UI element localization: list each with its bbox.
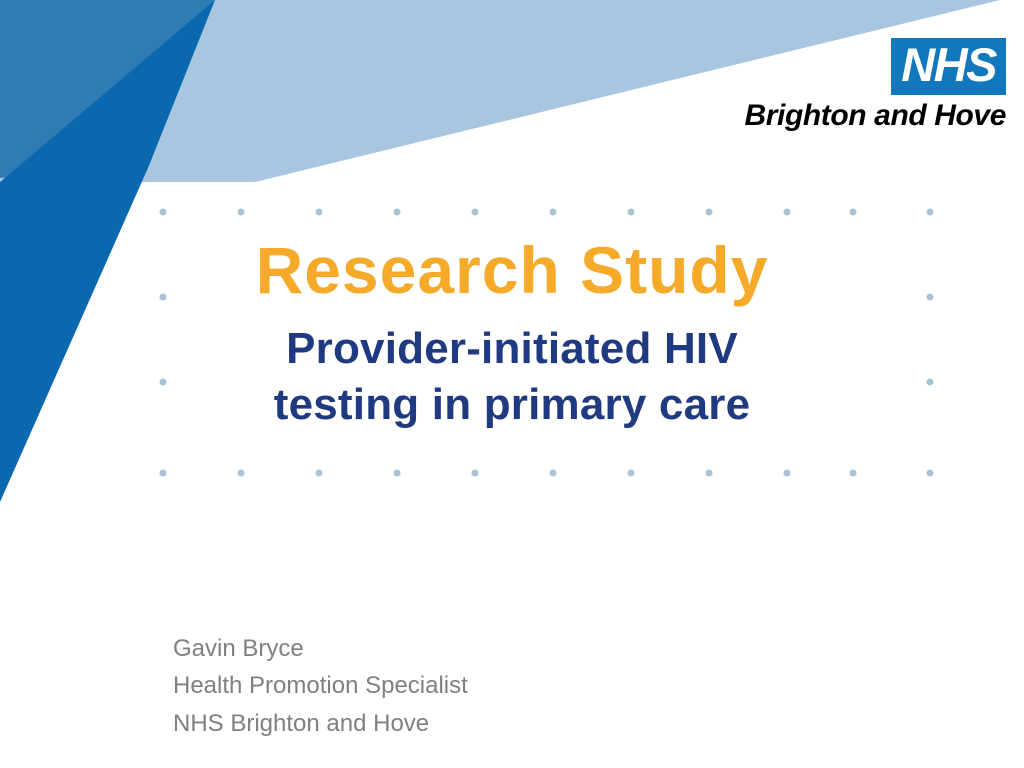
grid-dot xyxy=(706,470,713,477)
grid-dot xyxy=(238,470,245,477)
page-subtitle: Provider-initiated HIV testing in primar… xyxy=(192,321,832,432)
grid-dot xyxy=(316,470,323,477)
author-name: Gavin Bryce xyxy=(173,630,468,667)
grid-dot xyxy=(472,209,479,216)
subtitle-line-2: testing in primary care xyxy=(192,377,832,432)
grid-dot xyxy=(706,209,713,216)
nhs-trust-name: Brighton and Hove xyxy=(744,101,1006,131)
grid-dot xyxy=(550,209,557,216)
grid-dot xyxy=(784,209,791,216)
title-block: Research Study Provider-initiated HIV te… xyxy=(0,236,1024,432)
grid-dot xyxy=(628,470,635,477)
grid-dot xyxy=(316,209,323,216)
grid-dot xyxy=(160,209,167,216)
grid-dot xyxy=(850,470,857,477)
grid-dot xyxy=(394,209,401,216)
grid-dot xyxy=(784,470,791,477)
grid-dot xyxy=(927,470,934,477)
title-slide: NHS Brighton and Hove Research Study Pro… xyxy=(0,0,1024,768)
grid-dot xyxy=(550,470,557,477)
grid-dot xyxy=(628,209,635,216)
grid-dot xyxy=(160,470,167,477)
page-title: Research Study xyxy=(0,236,1024,305)
medium-blue-wedge-shape xyxy=(0,0,215,178)
author-block: Gavin Bryce Health Promotion Specialist … xyxy=(173,630,468,742)
grid-dot xyxy=(472,470,479,477)
author-organisation: NHS Brighton and Hove xyxy=(173,705,468,742)
nhs-logo: NHS Brighton and Hove xyxy=(744,38,1006,131)
grid-dot xyxy=(238,209,245,216)
grid-dot xyxy=(850,209,857,216)
grid-dot xyxy=(394,470,401,477)
nhs-wordmark: NHS xyxy=(891,38,1006,95)
grid-dot xyxy=(927,209,934,216)
author-role: Health Promotion Specialist xyxy=(173,667,468,704)
subtitle-line-1: Provider-initiated HIV xyxy=(192,321,832,376)
